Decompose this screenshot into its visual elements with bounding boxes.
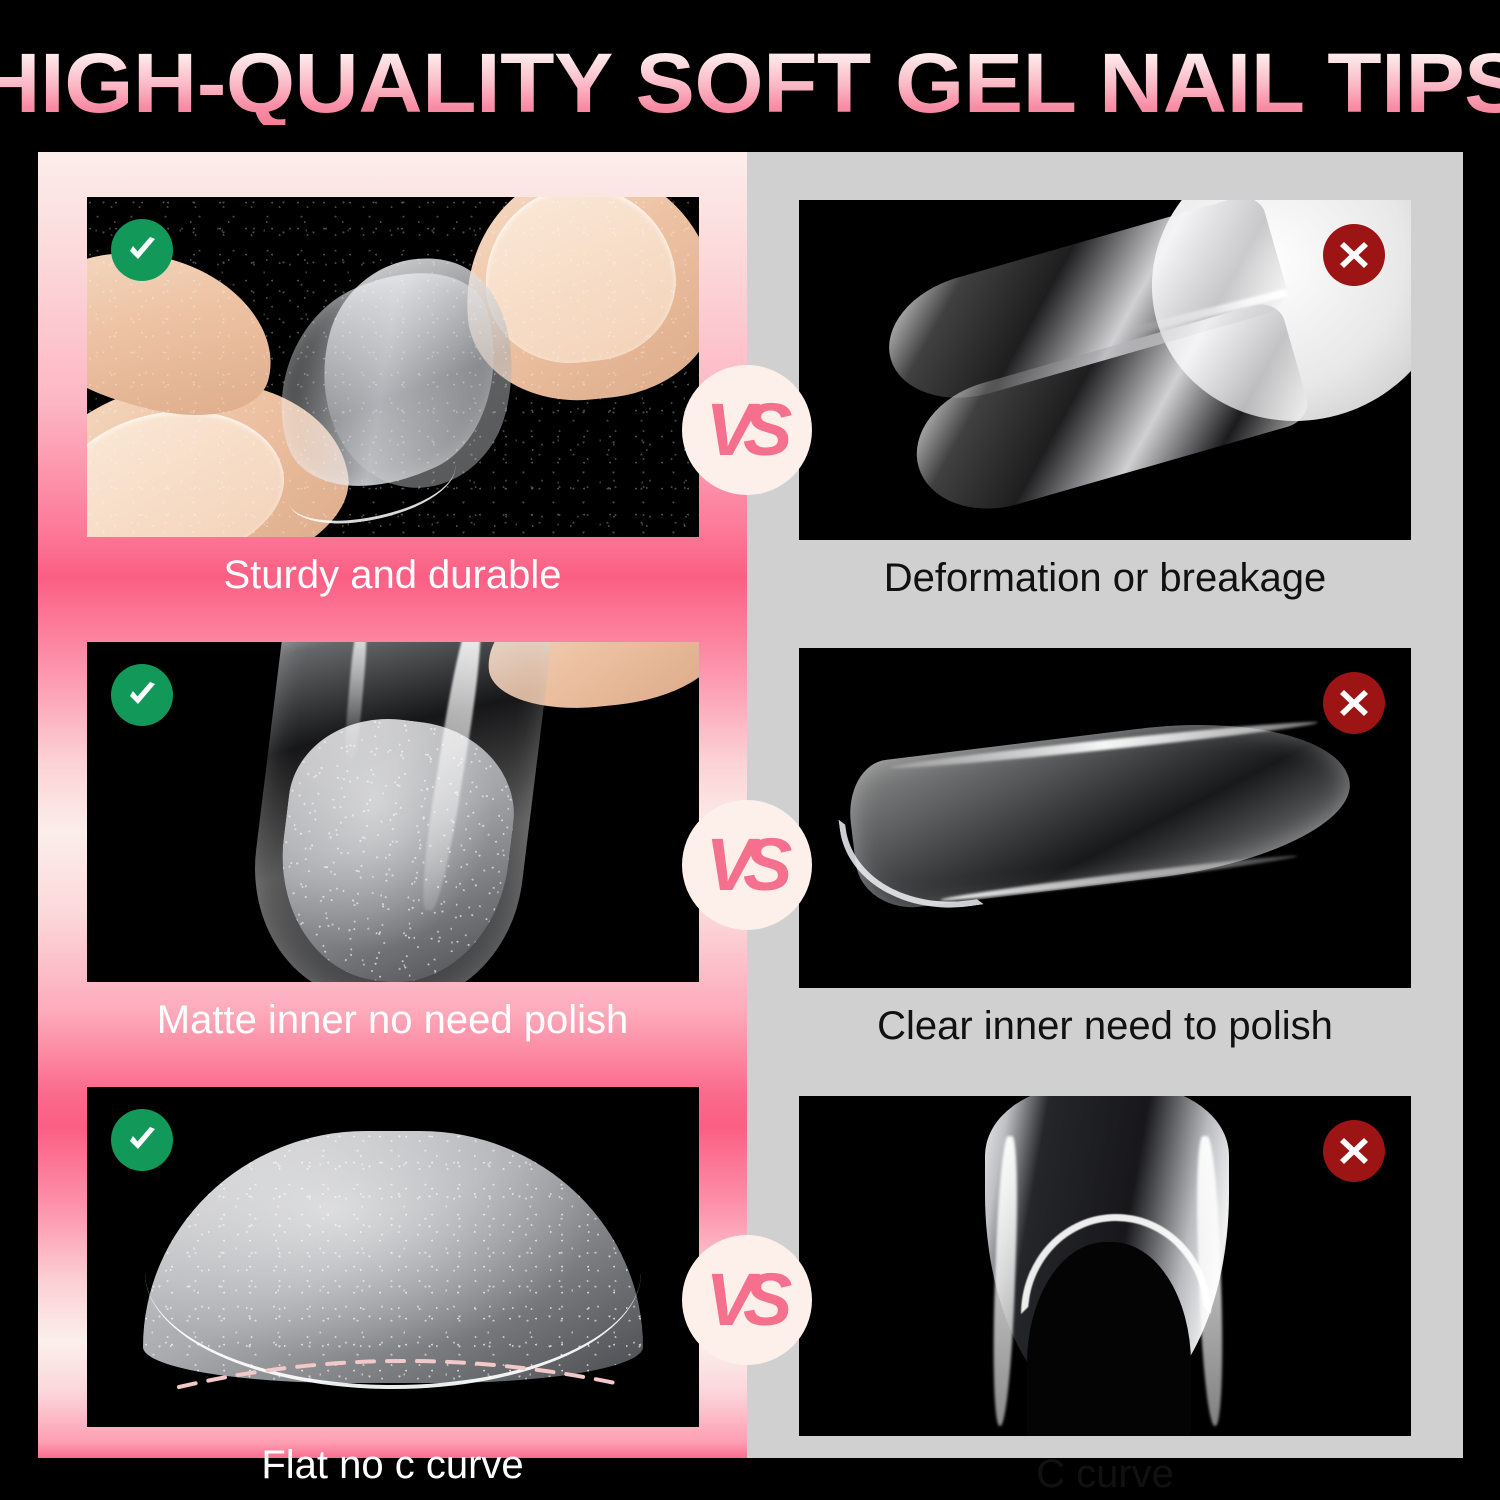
bad-cell-row2: Clear inner need to polish (747, 600, 1463, 1048)
photo-art-clear-inner (799, 648, 1411, 988)
vs-badge-row2: VS (682, 800, 812, 930)
good-photo-row1 (87, 197, 699, 537)
good-cell-row1: Sturdy and durable (38, 152, 747, 597)
bad-caption-row1: Deformation or breakage (884, 556, 1326, 600)
x-icon (1323, 672, 1385, 734)
good-cell-row2: Matte inner no need polish (38, 597, 747, 1042)
check-icon (111, 664, 173, 726)
photo-art-matte-inner (87, 642, 699, 982)
bad-photo-row1 (799, 200, 1411, 540)
good-column: Sturdy and durable (38, 152, 747, 1458)
vs-label: VS (706, 393, 789, 467)
bad-photo-row2 (799, 648, 1411, 988)
bad-caption-row3: C curve (1036, 1452, 1174, 1496)
photo-art-c-curve (799, 1096, 1411, 1436)
photo-art-broken-tip (799, 200, 1411, 540)
good-caption-row3: Flat no c curve (261, 1443, 523, 1487)
vs-badge-row1: VS (682, 365, 812, 495)
check-icon (111, 219, 173, 281)
photo-art-bend-test (87, 197, 699, 537)
bad-caption-row2: Clear inner need to polish (877, 1004, 1333, 1048)
title-bar: HIGH-QUALITY SOFT GEL NAIL TIPS (0, 30, 1500, 135)
vs-label: VS (706, 1263, 789, 1337)
bad-photo-row3 (799, 1096, 1411, 1436)
vs-label: VS (706, 828, 789, 902)
infographic-root: HIGH-QUALITY SOFT GEL NAIL TIPS (0, 0, 1500, 1500)
comparison-board: Sturdy and durable (38, 152, 1463, 1458)
vs-badge-row3: VS (682, 1235, 812, 1365)
bad-column: Deformation or breakage (747, 152, 1463, 1458)
good-photo-row3 (87, 1087, 699, 1427)
good-photo-row2 (87, 642, 699, 982)
bad-cell-row1: Deformation or breakage (747, 152, 1463, 600)
x-icon (1323, 1120, 1385, 1182)
bad-cell-row3: C curve (747, 1048, 1463, 1496)
good-caption-row1: Sturdy and durable (223, 553, 561, 597)
good-cell-row3: Flat no c curve (38, 1042, 747, 1487)
page-title: HIGH-QUALITY SOFT GEL NAIL TIPS (0, 41, 1500, 125)
photo-art-flat-arch (87, 1087, 699, 1427)
x-icon (1323, 224, 1385, 286)
good-caption-row2: Matte inner no need polish (157, 998, 628, 1042)
check-icon (111, 1109, 173, 1171)
